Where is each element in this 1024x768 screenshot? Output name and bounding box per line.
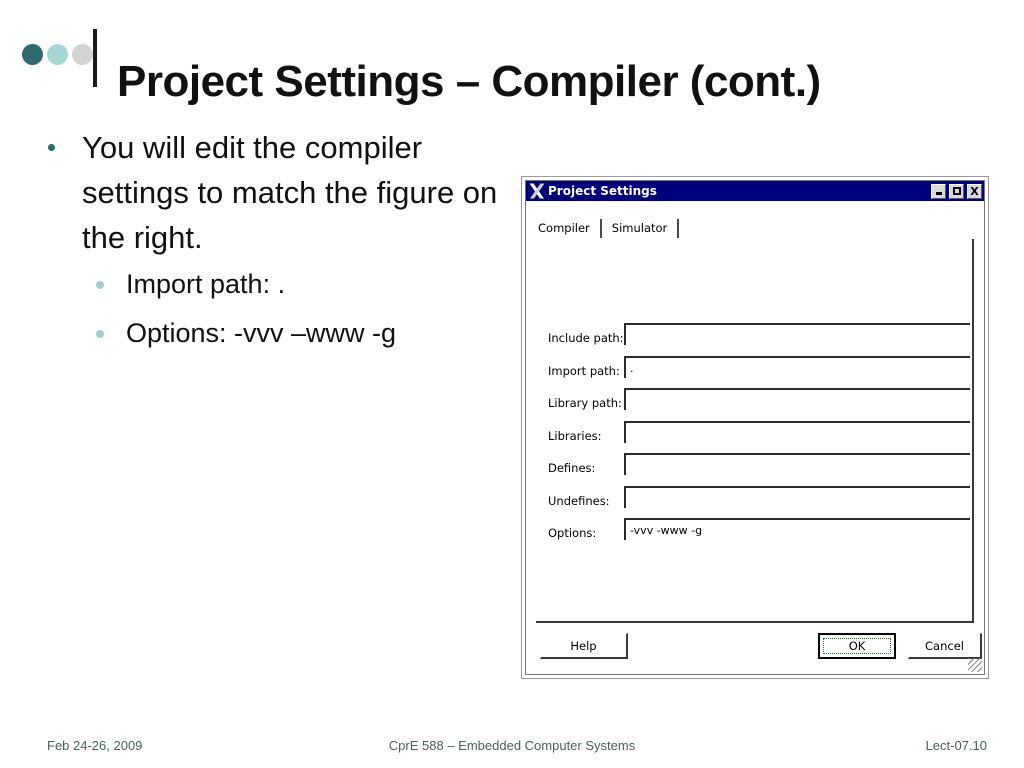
list-item-label: You will edit the compiler settings to m…: [82, 130, 497, 255]
x11-logo-icon: [527, 182, 547, 200]
options-value: -vvv -www -g: [630, 524, 702, 537]
dialog-tab-bar: Compiler Simulator: [538, 219, 689, 241]
tab-separator: [677, 219, 679, 238]
undefines-input[interactable]: [624, 486, 970, 508]
slide-footer: Feb 24-26, 2009 CprE 588 – Embedded Comp…: [0, 738, 1024, 760]
help-button[interactable]: Help: [540, 633, 628, 659]
slide-body-list: You will edit the compiler settings to m…: [40, 125, 510, 358]
import-path-label: Import path:: [548, 364, 620, 378]
title-vertical-rule: [93, 29, 97, 87]
field-row-include-path: Include path:: [540, 321, 970, 354]
tab-compiler[interactable]: Compiler: [538, 219, 600, 237]
slide-title-row: Project Settings – Compiler (cont.): [0, 14, 1024, 90]
libraries-label: Libraries:: [548, 429, 602, 443]
footer-course: CprE 588 – Embedded Computer Systems: [0, 738, 1024, 753]
import-path-input[interactable]: .: [624, 356, 970, 378]
libraries-input[interactable]: [624, 421, 970, 443]
project-settings-dialog: Project Settings X Compiler Simulator: [521, 176, 989, 679]
title-decor-dots: [22, 44, 96, 66]
list-item-label: Options: -vvv –www -g: [126, 318, 396, 348]
ok-button[interactable]: OK: [818, 633, 896, 659]
include-path-label: Include path:: [548, 331, 624, 345]
dialog-inner-frame: Project Settings X Compiler Simulator: [525, 180, 985, 675]
bullet-marker-icon: [48, 144, 55, 151]
titlebar-button-group: X: [931, 184, 982, 199]
decor-dot-2: [47, 44, 68, 65]
compiler-settings-form: Include path: Import path: . Library pat…: [540, 321, 970, 549]
minimize-button[interactable]: [931, 184, 946, 199]
dialog-titlebar[interactable]: Project Settings X: [526, 181, 984, 201]
cancel-button[interactable]: Cancel: [908, 633, 982, 659]
decor-dot-1: [22, 44, 43, 65]
undefines-label: Undefines:: [548, 494, 610, 508]
maximize-button[interactable]: [949, 184, 964, 199]
panel-border-right: [972, 239, 974, 623]
bullet-marker-icon: [96, 330, 104, 338]
options-label: Options:: [548, 526, 596, 540]
field-row-libraries: Libraries:: [540, 419, 970, 452]
field-row-defines: Defines:: [540, 451, 970, 484]
defines-label: Defines:: [548, 461, 595, 475]
list-item-label: Import path: .: [126, 269, 285, 299]
decor-dot-3: [72, 44, 93, 65]
tab-separator: [600, 219, 602, 238]
panel-border-bottom: [536, 621, 974, 623]
import-path-value: .: [630, 362, 634, 375]
dialog-title: Project Settings: [548, 184, 657, 198]
ok-focus-ring: [823, 638, 891, 654]
footer-page-number: Lect-07.10: [926, 738, 987, 753]
library-path-input[interactable]: [624, 388, 970, 410]
maximize-icon: [953, 187, 961, 195]
list-item: Import path: .: [40, 260, 510, 309]
page-title: Project Settings – Compiler (cont.): [117, 51, 821, 113]
dialog-button-bar: Help OK Cancel: [526, 633, 988, 669]
list-item: You will edit the compiler settings to m…: [40, 125, 510, 260]
options-input[interactable]: -vvv -www -g: [624, 518, 970, 540]
library-path-label: Library path:: [548, 396, 622, 410]
field-row-undefines: Undefines:: [540, 484, 970, 517]
close-icon: X: [970, 186, 978, 197]
resize-grip-icon[interactable]: [968, 658, 982, 672]
include-path-input[interactable]: [624, 323, 970, 345]
close-button[interactable]: X: [967, 184, 982, 199]
field-row-options: Options: -vvv -www -g: [540, 516, 970, 549]
tab-simulator[interactable]: Simulator: [612, 219, 678, 237]
minimize-icon: [936, 192, 942, 195]
field-row-import-path: Import path: .: [540, 354, 970, 387]
field-row-library-path: Library path:: [540, 386, 970, 419]
defines-input[interactable]: [624, 453, 970, 475]
bullet-marker-icon: [96, 281, 104, 289]
list-item: Options: -vvv –www -g: [40, 309, 510, 358]
